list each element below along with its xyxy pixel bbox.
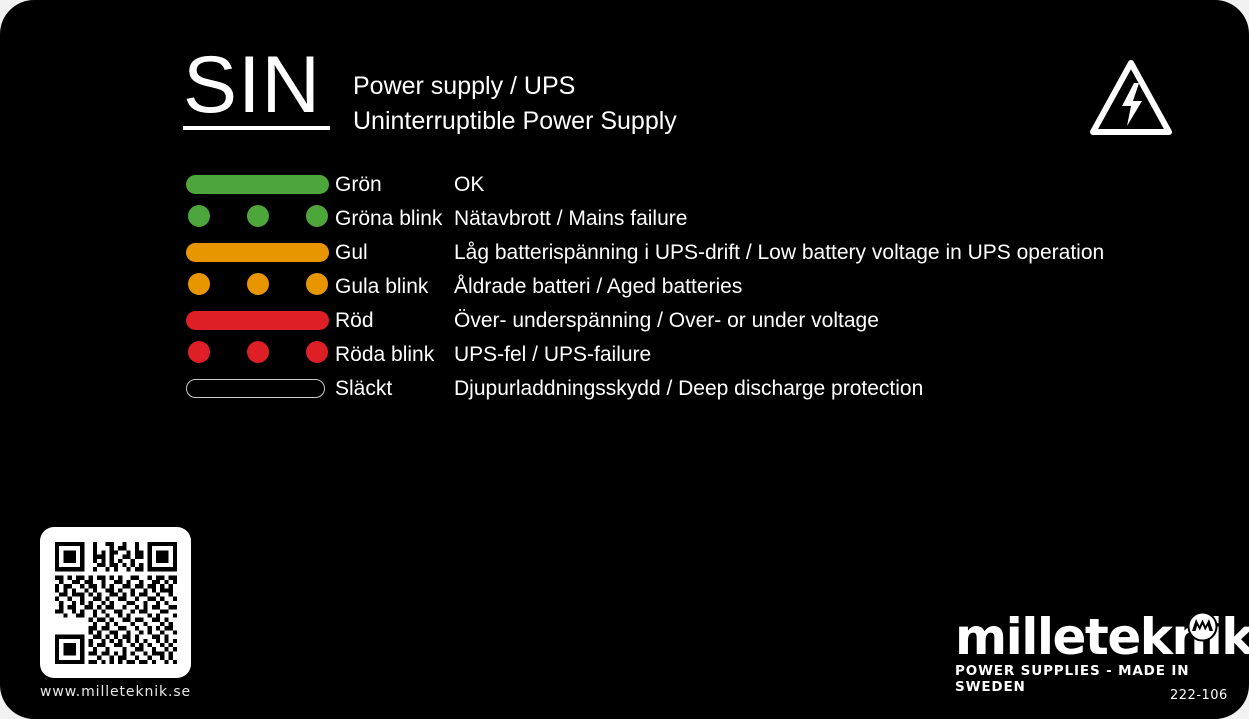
high-voltage-warning-icon [1089,58,1173,138]
led-dot-green [188,205,210,227]
indicator-legend: Grön OK Gröna blink Nätavbrott / Mains f… [186,168,1226,406]
indicator-solid-red [186,304,329,338]
legend-label: Släckt [335,372,392,406]
legend-description: OK [454,168,484,202]
indicator-blink-red [186,338,329,372]
legend-description: UPS-fel / UPS-failure [454,338,651,372]
legend-row: Släckt Djupurladdningsskydd / Deep disch… [186,372,1226,406]
indicator-solid-green [186,168,329,202]
led-pill-off [186,379,325,398]
subtitle-line-1: Power supply / UPS [353,69,677,104]
qr-code-block [40,527,191,678]
title-block: SIN [183,48,321,122]
website-url[interactable]: www.milleteknik.se [40,684,191,700]
legend-label: Röd [335,304,374,338]
led-dot-red [188,341,210,363]
legend-description: Över- underspänning / Over- or under vol… [454,304,879,338]
led-dot-green [306,205,328,227]
document-number: 222-106 [1170,688,1228,703]
subtitle-line-2: Uninterruptible Power Supply [353,104,677,139]
led-dot-orange [247,273,269,295]
legend-description: Åldrade batteri / Aged batteries [454,270,742,304]
led-dot-orange [306,273,328,295]
led-pill-orange [186,243,329,262]
indicator-off [186,372,329,406]
legend-label: Gula blink [335,270,428,304]
product-code: SIN [183,48,321,122]
product-label-panel: SIN Power supply / UPS Uninterruptible P… [0,0,1249,719]
title-underline [183,126,330,130]
legend-row: Röda blink UPS-fel / UPS-failure [186,338,1226,372]
legend-description: Låg batterispänning i UPS-drift / Low ba… [454,236,1104,270]
led-dot-orange [188,273,210,295]
led-dot-red [247,341,269,363]
legend-label: Grön [335,168,382,202]
qr-code-icon [55,542,177,664]
milleteknik-logo-mark-icon [1187,611,1218,642]
led-pill-red [186,311,329,330]
indicator-blink-orange [186,270,329,304]
legend-label: Gul [335,236,368,270]
legend-label: Röda blink [335,338,434,372]
legend-label: Gröna blink [335,202,442,236]
led-pill-green [186,175,329,194]
legend-row: Gröna blink Nätavbrott / Mains failure [186,202,1226,236]
legend-row: Röd Över- underspänning / Over- or under… [186,304,1226,338]
led-dot-green [247,205,269,227]
brand-name: milleteknik [955,612,1220,662]
brand-block: milleteknik POWER SUPPLIES - MADE IN SWE… [955,612,1220,695]
legend-description: Djupurladdningsskydd / Deep discharge pr… [454,372,923,406]
subtitle-block: Power supply / UPS Uninterruptible Power… [353,69,677,139]
led-dot-red [306,341,328,363]
legend-row: Gula blink Åldrade batteri / Aged batter… [186,270,1226,304]
indicator-solid-orange [186,236,329,270]
indicator-blink-green [186,202,329,236]
status-led-circle-icon [41,68,99,126]
legend-row: Grön OK [186,168,1226,202]
legend-row: Gul Låg batterispänning i UPS-drift / Lo… [186,236,1226,270]
legend-description: Nätavbrott / Mains failure [454,202,687,236]
